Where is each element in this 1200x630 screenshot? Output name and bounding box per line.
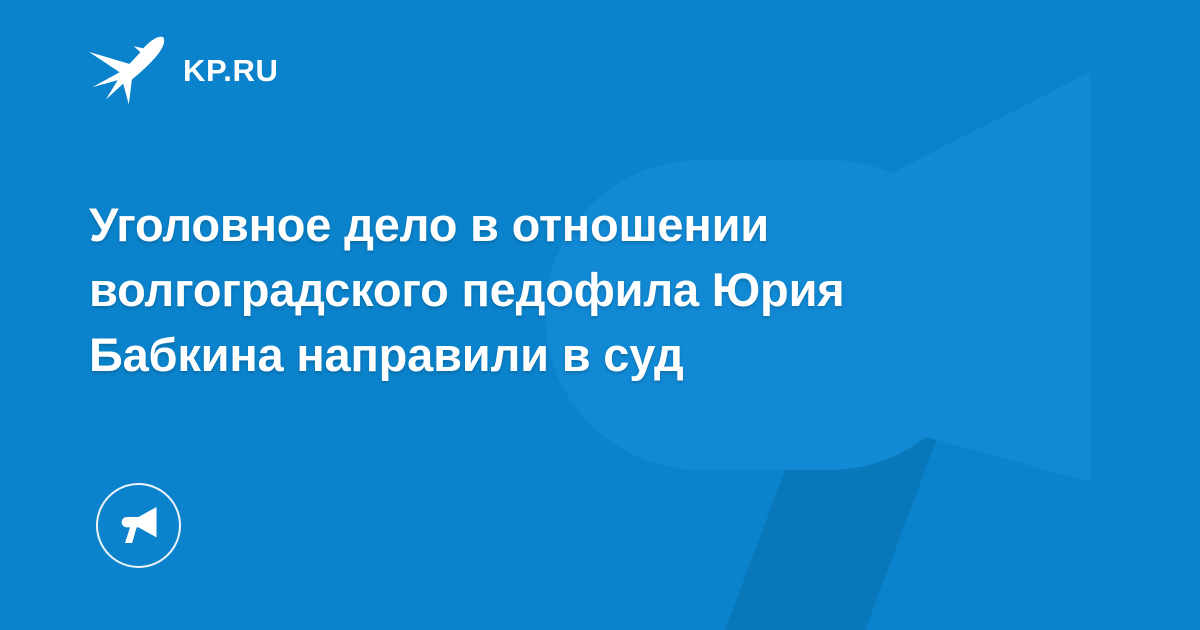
social-share-card: KP.RU Уголовное дело в отношении волгогр… [0, 0, 1200, 630]
headline-line-2: волгоградского педофила Юрия [89, 257, 1049, 322]
brand-lockup[interactable]: KP.RU [89, 34, 278, 106]
megaphone-icon [116, 503, 162, 549]
headline-line-1: Уголовное дело в отношении [89, 192, 1049, 257]
page-title: Уголовное дело в отношении волгоградског… [89, 192, 1049, 387]
swallow-bird-icon [89, 34, 167, 106]
megaphone-badge[interactable] [96, 483, 181, 568]
headline-line-3: Бабкина направили в суд [89, 322, 1049, 387]
brand-wordmark: KP.RU [183, 55, 278, 86]
megaphone-watermark-handle [725, 430, 940, 630]
